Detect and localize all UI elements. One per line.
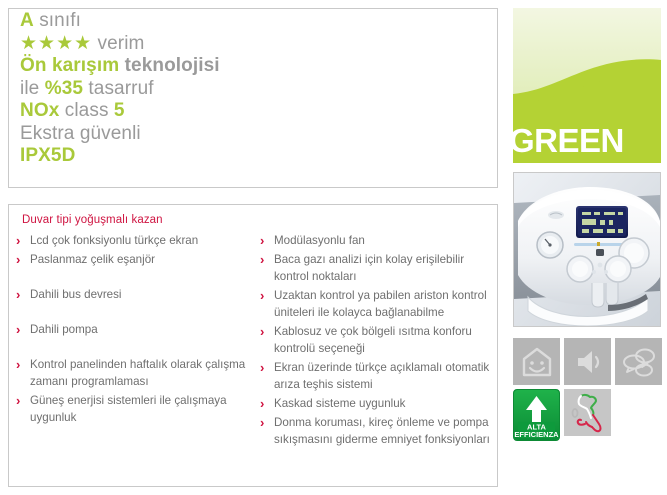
- product-photo: [513, 172, 661, 327]
- list-item: › Baca gazı analizi için kolay erişilebi…: [258, 251, 492, 285]
- hero-line-nox: NOx class 5: [20, 100, 470, 123]
- svg-text:EFFICIENZA: EFFICIENZA: [514, 430, 559, 439]
- list-item: › Dahili pompa: [14, 321, 248, 338]
- list-item: › Kaskad sisteme uygunluk: [258, 395, 492, 412]
- hero-safety-label: Ekstra güvenli: [20, 123, 141, 144]
- list-item: › Dahili bus devresi: [14, 286, 248, 303]
- list-item: › Ekran üzerinde türkçe açıklamalı otoma…: [258, 359, 492, 393]
- list-item-label: Modülasyonlu fan: [274, 232, 492, 249]
- chevron-right-icon: ›: [14, 251, 30, 268]
- chevron-right-icon: ›: [14, 286, 30, 303]
- chevron-right-icon: ›: [258, 232, 274, 249]
- chevron-right-icon: ›: [258, 323, 274, 340]
- house-smiley-icon: [513, 338, 560, 385]
- list-item-label: Donma koruması, kireç önleme ve pompa sı…: [274, 414, 492, 448]
- list-item: › Güneş enerjisi sistemleri ile çalışmay…: [14, 392, 248, 426]
- icon-grid: ALTA EFFICIENZA: [513, 338, 663, 445]
- list-item: › Donma koruması, kireç önleme ve pompa …: [258, 414, 492, 448]
- hero-line-class: A sınıfı: [20, 10, 470, 33]
- hero-nox-class-value: 5: [114, 100, 125, 121]
- chevron-right-icon: ›: [258, 395, 274, 412]
- list-item-label: Kontrol panelinden haftalık olarak çalış…: [30, 356, 248, 390]
- hero-efficiency-label: verim: [92, 33, 144, 54]
- hero-nox-label: NOx: [20, 100, 59, 121]
- star-rating-icon: ★★★★: [20, 33, 92, 54]
- hero-class-suffix: sınıfı: [34, 10, 81, 31]
- list-item-label: Güneş enerjisi sistemleri ile çalışmaya …: [30, 392, 248, 426]
- icon-row-bottom: ALTA EFFICIENZA: [513, 389, 663, 441]
- hero-nox-class-word: class: [59, 100, 114, 121]
- list-item: › Modülasyonlu fan: [258, 232, 492, 249]
- speech-bubbles-icon: [615, 338, 662, 385]
- list-item: › Kablosuz ve çok bölgeli ısıtma konforu…: [258, 323, 492, 357]
- list-item-label: Ekran üzerinde türkçe açıklamalı otomati…: [274, 359, 492, 393]
- list-item: › Lcd çok fonksiyonlu türkçe ekran: [14, 232, 248, 249]
- hero-text-block: A sınıfı ★★★★ verim Ön karışım teknoloji…: [20, 10, 470, 168]
- green-brand-banner: GREEN: [513, 8, 661, 163]
- list-item-label: Baca gazı analizi için kolay erişilebili…: [274, 251, 492, 285]
- banner-word: GREEN: [513, 124, 624, 157]
- feature-column-left: › Lcd çok fonksiyonlu türkçe ekran › Pas…: [14, 232, 248, 450]
- italy-map-icon: [564, 389, 611, 436]
- chevron-right-icon: ›: [258, 359, 274, 376]
- hero-class-letter: A: [20, 10, 34, 31]
- hero-line-safety: Ekstra güvenli: [20, 123, 470, 146]
- alta-efficienza-badge: ALTA EFFICIENZA: [513, 389, 560, 441]
- feature-list-heading: Duvar tipi yoğuşmalı kazan: [22, 214, 163, 226]
- list-item-label: Dahili bus devresi: [30, 286, 248, 303]
- list-item-label: Lcd çok fonksiyonlu türkçe ekran: [30, 232, 248, 249]
- chevron-right-icon: ›: [14, 356, 30, 373]
- icon-row-top: [513, 338, 663, 385]
- list-item-label: Kaskad sisteme uygunluk: [274, 395, 492, 412]
- list-item: › Paslanmaz çelik eşanjör: [14, 251, 248, 268]
- hero-saving-percent: %35: [45, 78, 83, 99]
- list-item-label: Uzaktan kontrol ya pabilen ariston kontr…: [274, 287, 492, 321]
- hero-line-saving: ile %35 tasarruf: [20, 78, 470, 101]
- chevron-right-icon: ›: [14, 321, 30, 338]
- chevron-right-icon: ›: [258, 414, 274, 431]
- chevron-right-icon: ›: [14, 232, 30, 249]
- hero-saving-prefix: ile: [20, 78, 45, 99]
- chevron-right-icon: ›: [14, 392, 30, 409]
- speaker-icon: [564, 338, 611, 385]
- feature-columns: › Lcd çok fonksiyonlu türkçe ekran › Pas…: [14, 232, 492, 450]
- chevron-right-icon: ›: [258, 251, 274, 268]
- hero-line-premix: Ön karışım teknolojisi: [20, 55, 470, 78]
- boiler-control-panel-image: [514, 173, 660, 326]
- hero-line-efficiency: ★★★★ verim: [20, 33, 470, 56]
- hero-ipx-rating: IPX5D: [20, 145, 75, 166]
- list-item-label: Paslanmaz çelik eşanjör: [30, 251, 248, 268]
- hero-line-ipx: IPX5D: [20, 145, 470, 168]
- hero-premix-highlight: Ön karışım: [20, 55, 119, 76]
- hero-premix-suffix: teknolojisi: [119, 55, 219, 76]
- feature-column-right: › Modülasyonlu fan › Baca gazı analizi i…: [258, 232, 492, 450]
- hero-saving-suffix: tasarruf: [83, 78, 154, 99]
- list-item-label: Dahili pompa: [30, 321, 248, 338]
- list-item: › Kontrol panelinden haftalık olarak çal…: [14, 356, 248, 390]
- list-item: › Uzaktan kontrol ya pabilen ariston kon…: [258, 287, 492, 321]
- list-item-label: Kablosuz ve çok bölgeli ısıtma konforu k…: [274, 323, 492, 357]
- chevron-right-icon: ›: [258, 287, 274, 304]
